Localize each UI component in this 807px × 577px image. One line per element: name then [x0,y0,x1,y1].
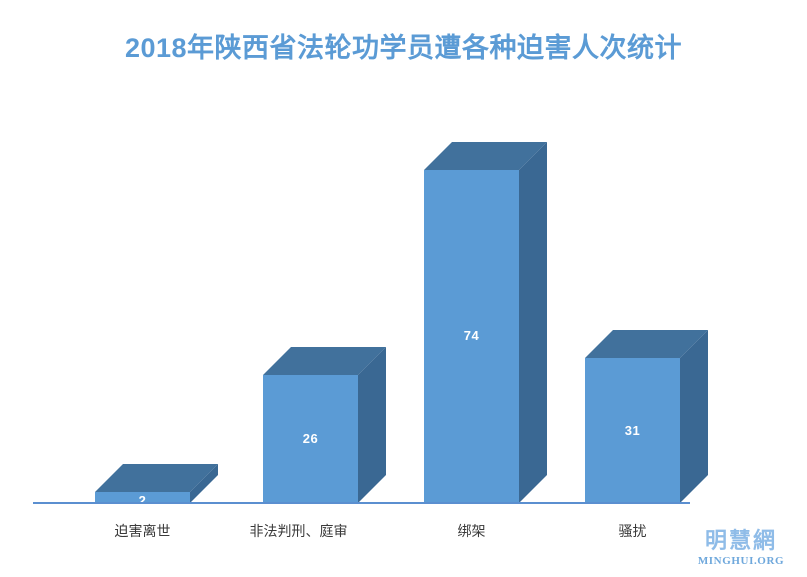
bar-group-0: 2 [95,464,218,503]
bar-front-face-2 [424,170,519,503]
category-label-1: 非法判刑、庭审 [216,521,381,541]
bar-group-3: 31 [585,330,708,503]
x-axis-line [33,502,690,504]
category-label-3: 骚扰 [565,521,700,541]
bar-front-face-1 [263,375,358,503]
minghui-logo-chinese: 明慧網 [687,531,795,553]
bar-front-face-3 [585,358,680,503]
bar-group-2: 74 [424,142,547,503]
category-label-2: 绑架 [404,521,539,541]
minghui-watermark: 明慧網 MINGHUI.ORG [687,531,795,567]
bar-group-1: 26 [263,347,386,503]
minghui-logo-english: MINGHUI.ORG [687,556,795,567]
plot-area: 2 26 74 31 迫害离世 非法判刑、庭审 绑架 骚扰 [0,0,807,577]
chart-container: 2018年陕西省法轮功学员遭各种迫害人次统计 2 26 74 [0,0,807,577]
category-label-0: 迫害离世 [75,521,210,541]
